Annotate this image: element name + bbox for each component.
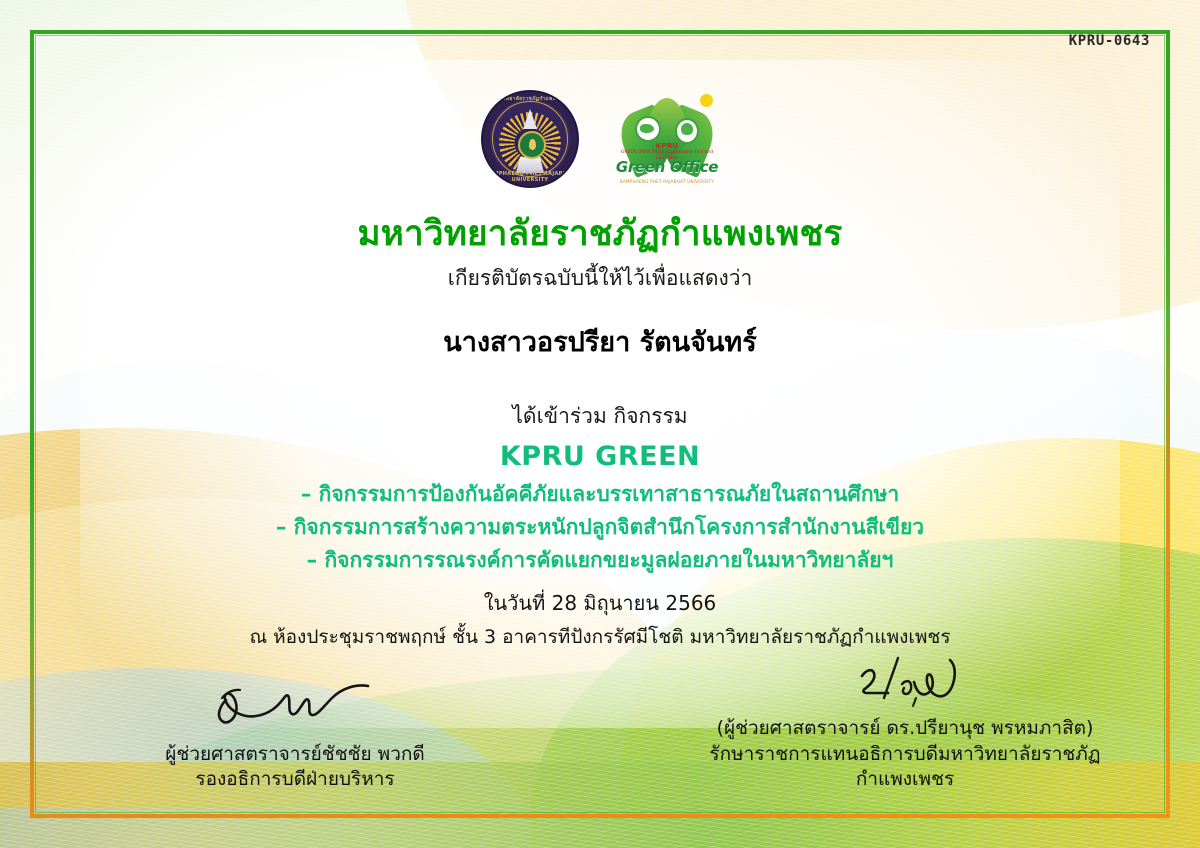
handwritten-signature-icon xyxy=(670,654,1140,716)
participation-label: ได้เข้าร่วม กิจกรรม xyxy=(40,400,1160,433)
recipient-name: นางสาวอรปรียา รัตนจันทร์ xyxy=(40,327,1160,359)
university-seal-icon: มหาวิทยาลัยราชภัฏกำแพงเพชร KAMPHAENG PHE… xyxy=(481,90,579,188)
program-name: KPRU GREEN xyxy=(40,441,1160,472)
certificate-statement: เกียรติบัตรฉบับนี้ให้ไว้เพื่อแสดงว่า xyxy=(40,266,1160,291)
signer-name: ผู้ช่วยศาสตราจารย์ชัชชัย พวกดี xyxy=(60,742,530,768)
certificate-page: KPRU-0643 มหาวิทยาลัยราชภัฏกำแพงเพชร KAM… xyxy=(0,0,1200,848)
signature-row: ผู้ช่วยศาสตราจารย์ชัชชัย พวกดี รองอธิการ… xyxy=(60,654,1140,793)
activity-item: – กิจกรรมการสร้างความตระหนักปลูกจิตสำนึก… xyxy=(40,511,1160,544)
green-office-kpru-label: KPRU xyxy=(615,142,719,150)
seal-text-top: มหาวิทยาลัยราชภัฏกำแพงเพชร xyxy=(483,95,577,103)
signer-name: (ผู้ช่วยศาสตราจารย์ ดร.ปรียานุช พรหมภาสิ… xyxy=(670,716,1140,742)
signature-block-right: (ผู้ช่วยศาสตราจารย์ ดร.ปรียานุช พรหมภาสิ… xyxy=(670,654,1140,793)
activity-list: – กิจกรรมการป้องกันอัคคีภัยและบรรเทาสาธา… xyxy=(40,478,1160,578)
organization-title: มหาวิทยาลัยราชภัฏกำแพงเพชร xyxy=(40,214,1160,254)
activity-item: – กิจกรรมการป้องกันอัคคีภัยและบรรเทาสาธา… xyxy=(40,478,1160,511)
event-date: ในวันที่ 28 มิถุนายน 2566 xyxy=(40,587,1160,619)
green-office-name: Green Office xyxy=(615,158,719,176)
university-seal-logo: มหาวิทยาลัยราชภัฏกำแพงเพชร KAMPHAENG PHE… xyxy=(481,90,579,188)
sun-icon xyxy=(700,94,713,107)
globe-icon xyxy=(635,116,661,142)
seal-pagoda-icon xyxy=(523,109,537,129)
tree-icon xyxy=(675,118,699,144)
green-office-tagline: KAMPHAENG PHET RAJABHAT UNIVERSITY xyxy=(615,179,719,184)
logo-row: มหาวิทยาลัยราชภัฏกำแพงเพชร KAMPHAENG PHE… xyxy=(40,90,1160,190)
seal-text-bottom: KAMPHAENG PHET RAJABHAT UNIVERSITY xyxy=(483,171,577,183)
activity-item: – กิจกรรมการรณรงค์การคัดแยกขยะมูลฝอยภายใ… xyxy=(40,544,1160,577)
signature-block-left: ผู้ช่วยศาสตราจารย์ชัชชัย พวกดี รองอธิการ… xyxy=(60,680,530,793)
signer-role: รองอธิการบดีฝ่ายบริหาร xyxy=(60,767,530,793)
green-office-logo: KPRU GREEN UNIVERSITY Sustainable Thaila… xyxy=(615,90,719,184)
event-venue: ณ ห้องประชุมราชพฤกษ์ ชั้น 3 อาคารทีปังกร… xyxy=(40,622,1160,652)
certificate-content: มหาวิทยาลัยราชภัฏกำแพงเพชร KAMPHAENG PHE… xyxy=(40,40,1160,652)
handwritten-signature-icon xyxy=(60,680,530,742)
signer-role: รักษาราชการแทนอธิการบดีมหาวิทยาลัยราชภัฏ… xyxy=(670,742,1140,793)
seal-emblem-core xyxy=(518,131,546,159)
green-office-leaf-icon: KPRU GREEN UNIVERSITY Sustainable Thaila… xyxy=(615,90,719,184)
